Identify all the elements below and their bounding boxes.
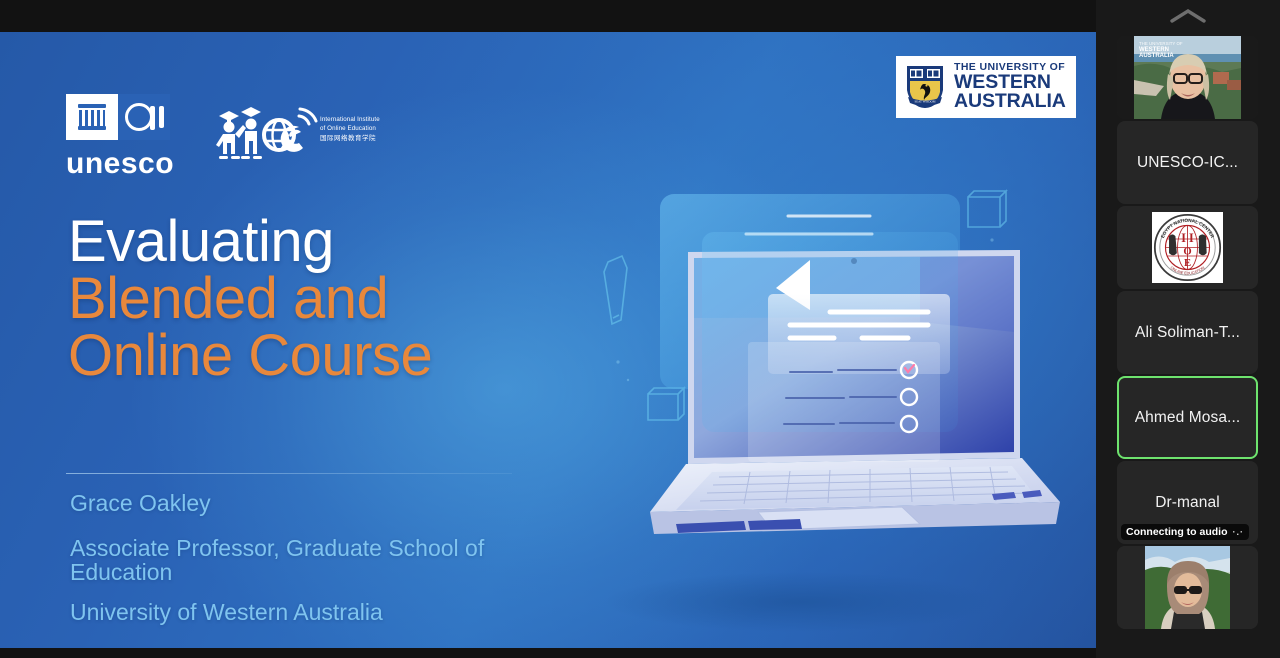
iioe-graduate-globe-icon <box>195 100 323 162</box>
slide-logo-row: unesco <box>0 32 1096 182</box>
presenter-byline: Grace Oakley Associate Professor, Gradua… <box>70 490 540 627</box>
uwa-wordmark: THE UNIVERSITY OF WESTERN AUSTRALIA <box>954 62 1066 112</box>
participant-name-4: Ali Soliman-T... <box>1135 324 1240 342</box>
participant-filmstrip: THE UNIVERSITY OF WESTERN AUSTRALIA UNES… <box>1096 0 1280 658</box>
uwa-line3: AUSTRALIA <box>954 92 1066 112</box>
participant-video-woman-hijab-sunglasses <box>1117 546 1258 629</box>
slide-title: Evaluating Blended and Online Course <box>68 214 588 383</box>
presenter-name: Grace Oakley <box>70 490 540 518</box>
svg-text:O: O <box>1183 247 1191 258</box>
iioe-line2: of Online Education <box>320 125 380 134</box>
svg-text:AUSTRALIA: AUSTRALIA <box>1139 53 1174 59</box>
meeting-window: unesco <box>0 0 1280 658</box>
participant-name-2: UNESCO-IC... <box>1137 154 1238 172</box>
participant-tile-4[interactable]: Ali Soliman-T... <box>1117 291 1258 374</box>
iioe-egypt-national-center-seal: I I O E EGYPT NATIONAL CENTER ONLINE EDU… <box>1152 212 1223 283</box>
uwa-crest-swan-icon: SEAT WISDOM <box>904 64 946 110</box>
participant-tile-1[interactable]: THE UNIVERSITY OF WESTERN AUSTRALIA <box>1117 36 1258 119</box>
participant-tile-7[interactable] <box>1117 546 1258 629</box>
title-line-1: Evaluating <box>68 214 588 269</box>
status-badge-connecting-audio: Connecting to audio ·.· <box>1121 524 1249 540</box>
participant-name-6: Dr-manal <box>1155 494 1220 512</box>
iioe-wordmark: International Institute of Online Educat… <box>320 116 380 143</box>
participant-name-5: Ahmed Mosa... <box>1135 409 1241 427</box>
participant-tiles: THE UNIVERSITY OF WESTERN AUSTRALIA UNES… <box>1096 32 1280 658</box>
participant-tile-3[interactable]: I I O E EGYPT NATIONAL CENTER ONLINE EDU… <box>1117 206 1258 289</box>
audio-connecting-dots-icon: ·.· <box>1233 527 1245 537</box>
iioe-logo: International Institute of Online Educat… <box>195 100 395 162</box>
unesco-temple-people-icon <box>66 94 170 140</box>
presenter-role: Associate Professor, Graduate School of … <box>70 536 540 586</box>
svg-text:I I: I I <box>1181 231 1194 245</box>
title-line-2: Blended and <box>68 271 588 326</box>
shared-screen-slide[interactable]: unesco <box>0 32 1096 648</box>
svg-text:E: E <box>1184 258 1191 269</box>
unesco-logo: unesco <box>66 94 174 179</box>
iioe-line3: 国际网络教育学院 <box>320 134 380 143</box>
presenter-organisation: University of Western Australia <box>70 599 540 627</box>
uwa-logo: SEAT WISDOM THE UNIVERSITY OF WESTERN AU… <box>896 56 1076 118</box>
laptop-online-learning-illustration <box>500 172 1096 642</box>
audio-status-text: Connecting to audio <box>1126 526 1228 538</box>
participant-tile-5-active[interactable]: Ahmed Mosa... <box>1117 376 1258 459</box>
chevron-up-icon <box>1168 8 1208 24</box>
participant-video-woman-outdoors: THE UNIVERSITY OF WESTERN AUSTRALIA <box>1117 36 1258 119</box>
title-line-3: Online Course <box>68 328 588 383</box>
iioe-line1: International Institute <box>320 116 380 125</box>
participant-tile-6[interactable]: Dr-manal Connecting to audio ·.· <box>1117 461 1258 544</box>
unesco-wordmark: unesco <box>66 149 174 179</box>
svg-text:THE UNIVERSITY OF: THE UNIVERSITY OF <box>1139 41 1183 46</box>
participant-tile-2[interactable]: UNESCO-IC... <box>1117 121 1258 204</box>
filmstrip-collapse-button[interactable] <box>1096 0 1280 32</box>
title-divider <box>66 473 512 474</box>
svg-text:SEAT WISDOM: SEAT WISDOM <box>915 99 936 103</box>
